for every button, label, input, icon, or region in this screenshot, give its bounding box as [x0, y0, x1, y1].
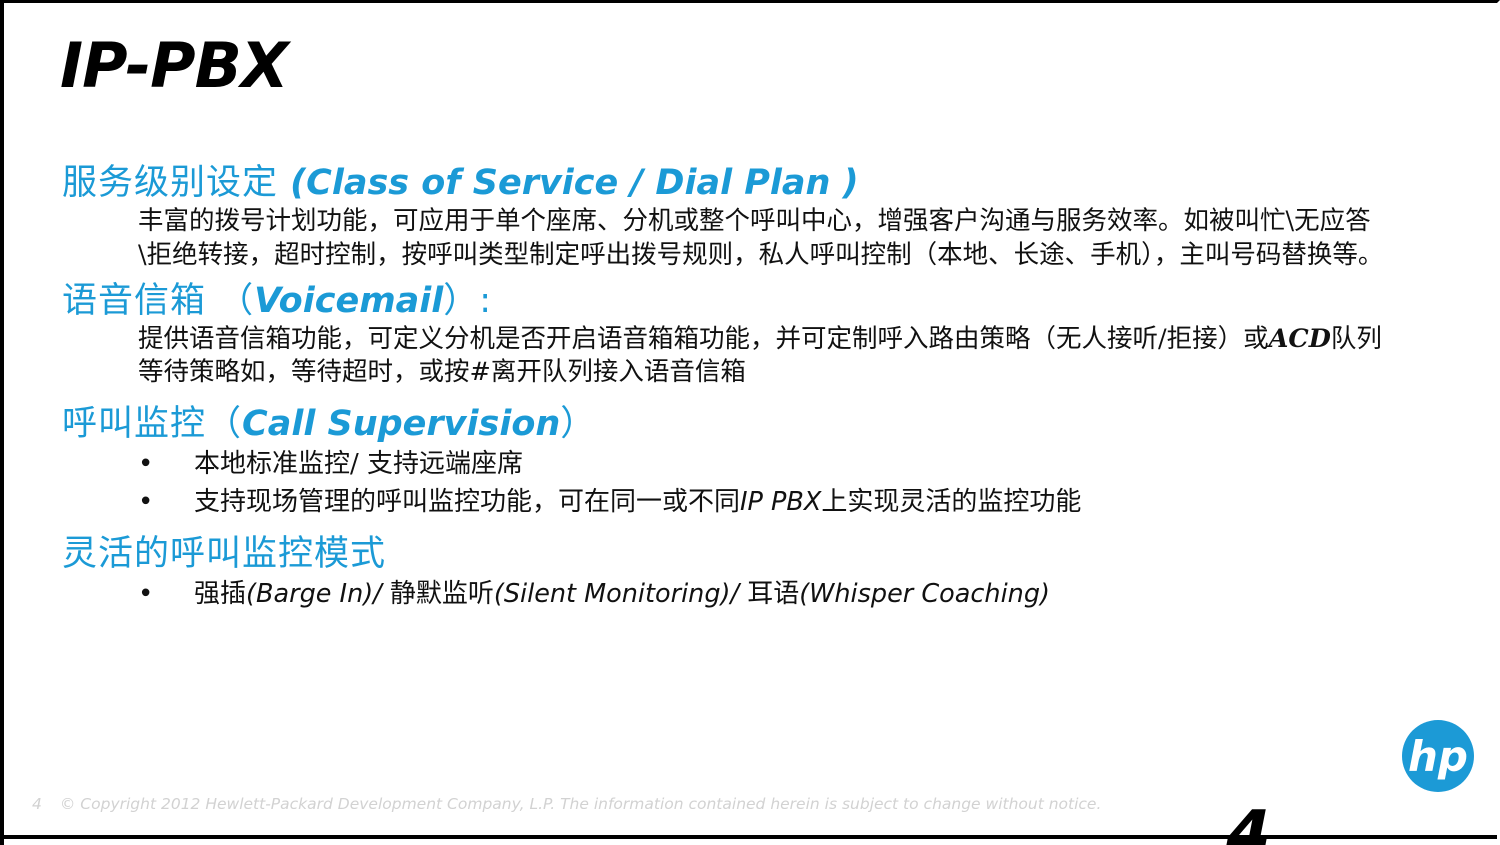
- heading-en-text: Voicemail: [254, 281, 443, 321]
- list-item-label: 强插(Barge In)/ 静默监听(Silent Monitoring)/ 耳…: [194, 578, 1424, 612]
- slide-footer: 4 © Copyright 2012 Hewlett-Packard Devel…: [32, 795, 1101, 813]
- heading-en-text: Call Supervision: [242, 404, 560, 444]
- section-heading-voicemail: 语音信箱 （Voicemail）:: [4, 281, 1464, 321]
- page-title: IP-PBX: [60, 29, 288, 102]
- list-item: • 支持现场管理的呼叫监控功能，可在同一或不同IP PBX上实现灵活的监控功能: [4, 486, 1464, 520]
- slide-body: 服务级别设定 (Class of Service / Dial Plan ) 丰…: [4, 163, 1464, 616]
- heading-cn-post: ）: [560, 404, 596, 444]
- bullet-marker-icon: •: [138, 448, 194, 482]
- heading-cn-pre: 呼叫监控（: [62, 404, 242, 444]
- list-item-cn-silent-monitoring: 静默监听: [390, 579, 494, 609]
- section-heading-class-of-service: 服务级别设定 (Class of Service / Dial Plan ): [4, 163, 1464, 203]
- section-paragraph-voicemail: 提供语音信箱功能，可定义分机是否开启语音箱箱功能，并可定制呼入路由策略（无人接听…: [4, 323, 1464, 390]
- hp-logo: hp: [1401, 719, 1475, 793]
- list-item-cn-barge-in: 强插: [194, 579, 246, 609]
- footer-copyright-text: © Copyright 2012 Hewlett-Packard Develop…: [60, 795, 1102, 813]
- section-heading-call-supervision: 呼叫监控（Call Supervision）: [4, 404, 1464, 444]
- hp-logo-icon: hp: [1401, 719, 1475, 793]
- list-item-en-whisper-coaching: (Whisper Coaching): [799, 579, 1050, 609]
- footer-page-number: 4: [32, 795, 42, 813]
- section-heading-flexible-monitoring-modes: 灵活的呼叫监控模式: [4, 534, 1464, 574]
- heading-cn-text: 服务级别设定: [62, 163, 290, 203]
- list-item-segment-1: 支持现场管理的呼叫监控功能，可在同一或不同: [194, 487, 740, 517]
- list-item-label: 本地标准监控/ 支持远端座席: [194, 448, 1424, 482]
- slide-canvas: IP-PBX 服务级别设定 (Class of Service / Dial P…: [0, 0, 1500, 845]
- list-item-label: 支持现场管理的呼叫监控功能，可在同一或不同IP PBX上实现灵活的监控功能: [194, 486, 1424, 520]
- section-paragraph-class-of-service: 丰富的拨号计划功能，可应用于单个座席、分机或整个呼叫中心，增强客户沟通与服务效率…: [4, 205, 1464, 272]
- heading-en-text: (Class of Service / Dial Plan ): [290, 163, 858, 203]
- list-item-en-barge-in: (Barge In)/: [246, 579, 390, 609]
- heading-cn-tail: ）:: [443, 281, 492, 321]
- list-item-en-silent-monitoring: (Silent Monitoring)/: [494, 579, 747, 609]
- heading-cn-text: 灵活的呼叫监控模式: [62, 534, 386, 574]
- bottom-divider: [4, 835, 1500, 839]
- heading-cn-text: 语音信箱 （: [62, 281, 254, 321]
- list-item: • 强插(Barge In)/ 静默监听(Silent Monitoring)/…: [4, 578, 1464, 612]
- svg-text:hp: hp: [1408, 732, 1468, 781]
- bullet-marker-icon: •: [138, 578, 194, 612]
- list-item: • 本地标准监控/ 支持远端座席: [4, 448, 1464, 482]
- paragraph-segment-1: 提供语音信箱功能，可定义分机是否开启语音箱箱功能，并可定制呼入路由策略（无人接听…: [138, 324, 1269, 354]
- list-item-segment-2: 上实现灵活的监控功能: [821, 487, 1081, 517]
- paragraph-acd-abbr: ACD: [1269, 324, 1331, 354]
- bullet-marker-icon: •: [138, 486, 194, 520]
- list-item-ip-pbx-term: IP PBX: [740, 487, 821, 517]
- list-item-cn-whisper-coaching: 耳语: [747, 579, 799, 609]
